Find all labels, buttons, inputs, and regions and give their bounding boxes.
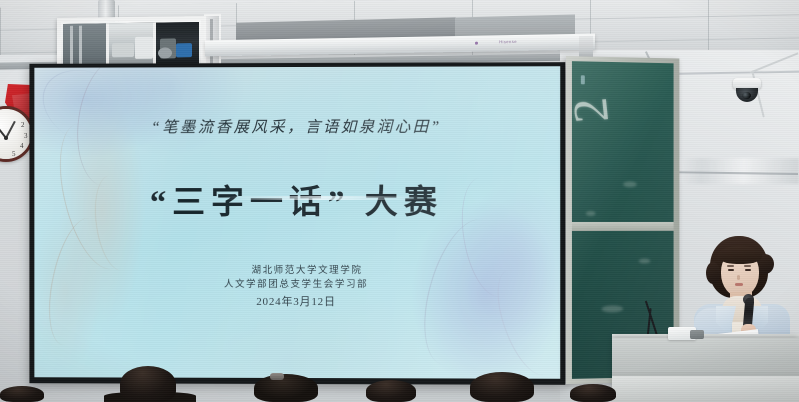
slide-subtitle-quote: “笔墨流香展风采，言语如泉润心田” [151,115,441,138]
cabinet-pane-left [63,23,109,68]
equipment-box [112,43,134,57]
nose [737,275,740,280]
slide-date: 2024年3月12日 [224,294,368,310]
chalkboard-surface[interactable]: 2 [572,61,674,379]
slide-text-block: “笔墨流香展风采，言语如泉润心田” “三字一话” 大赛 湖北师范大学文理学院 人… [34,66,560,379]
equipment-box [158,47,172,58]
audience-head [470,372,534,402]
housing-end-cap [579,36,593,58]
slide-organization-block: 湖北师范大学文理学院 人文学部团总支学生会学习部 2024年3月12日 [224,265,368,311]
clock-numeral-4: 4 [20,142,24,150]
audience-head [366,380,416,402]
device-on-podium [690,330,704,339]
projection-screen[interactable]: “笔墨流香展风采，言语如泉润心田” “三字一话” 大赛 湖北师范大学文理学院 人… [34,66,560,379]
mouth [735,283,743,286]
cabinet-pane-middle [109,23,155,68]
cabinet-glass-panes [63,22,199,68]
eyebrow-right [744,265,751,267]
clock-center-pin [4,136,8,140]
classroom-scene: 2 3 4 5 Hi [0,0,799,402]
audience-head [254,374,318,402]
audience-head [0,386,44,402]
cabinet-bar [79,26,82,66]
slide-org-line-1: 湖北师范大学文理学院 [224,265,368,279]
audience-head [120,366,176,402]
brand-logo-icon [475,41,478,44]
housing-brand-label: Hisense [499,39,517,44]
podium-lower-ledge [612,376,799,402]
cabinet-bar [70,26,73,66]
equipment-box [135,37,153,59]
presentation-slide: “笔墨流香展风采，言语如泉润心田” “三字一话” 大赛 湖北师范大学文理学院 人… [34,66,560,379]
camera-lens-icon [742,92,751,99]
clock-numeral-2: 2 [21,121,25,129]
clock-numeral-5: 5 [12,150,16,158]
audience-head [570,384,616,402]
hair-bun-left [706,262,720,284]
cabinet-pane-right [156,22,199,67]
slide-org-line-2: 人文学部团总支学生会学习部 [224,279,368,293]
dome-security-camera [733,78,761,104]
chalkboard-sheen [572,61,674,379]
eyebrow-left [727,265,734,267]
hair-fringe [718,246,762,264]
projection-screen-frame: “笔墨流香展风采，言语如泉润心田” “三字一话” 大赛 湖北师范大学文理学院 人… [29,62,565,385]
equipment-box-blue [176,43,192,57]
hair-clip-icon [270,373,284,380]
clock-numeral-3: 3 [24,132,28,140]
light-reflection-streak [222,196,422,200]
